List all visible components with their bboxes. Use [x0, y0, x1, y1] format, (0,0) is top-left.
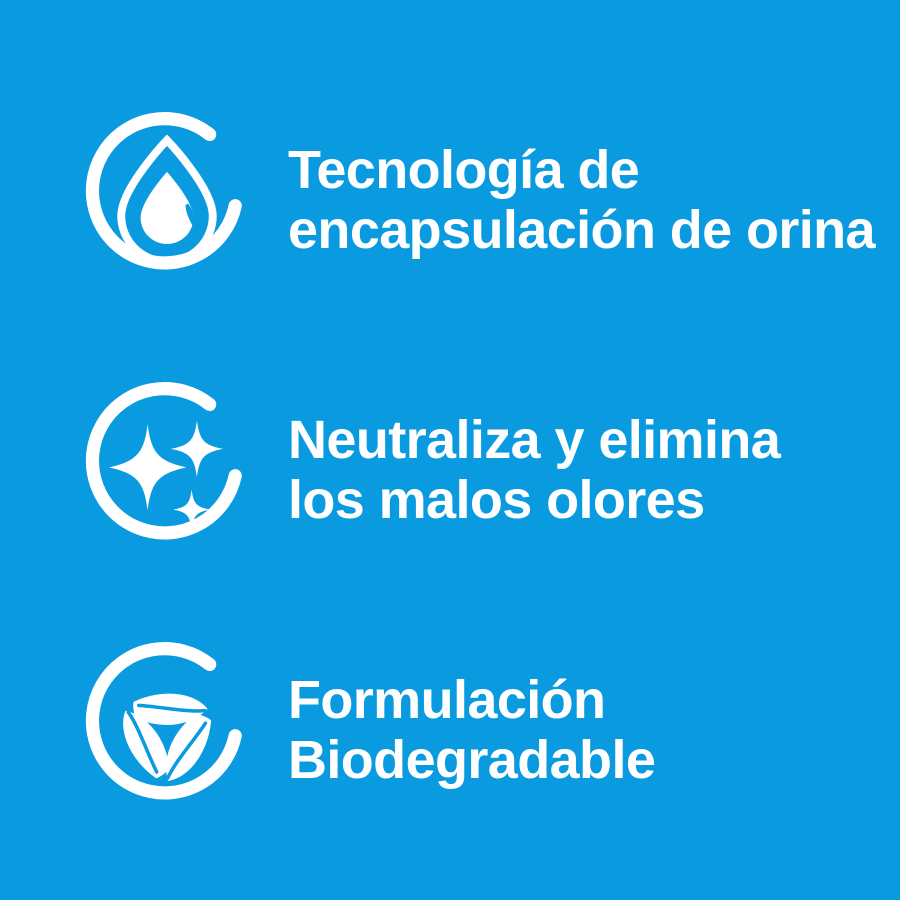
feature-label: Formulación Biodegradable — [288, 670, 655, 790]
feature-label: Neutraliza y elimina los malos olores — [288, 410, 780, 530]
feature-label: Tecnología de encapsulación de orina — [288, 140, 875, 260]
biodegradable-leaves-icon — [52, 625, 282, 835]
feature-row: Tecnología de encapsulación de orina — [0, 95, 900, 305]
feature-row: Formulación Biodegradable — [0, 625, 900, 835]
feature-list-graphic: Tecnología de encapsulación de orina Neu… — [0, 0, 900, 900]
water-drop-encapsulation-icon — [52, 95, 282, 305]
feature-row: Neutraliza y elimina los malos olores — [0, 365, 900, 575]
sparkle-odor-neutralize-icon — [52, 365, 282, 575]
